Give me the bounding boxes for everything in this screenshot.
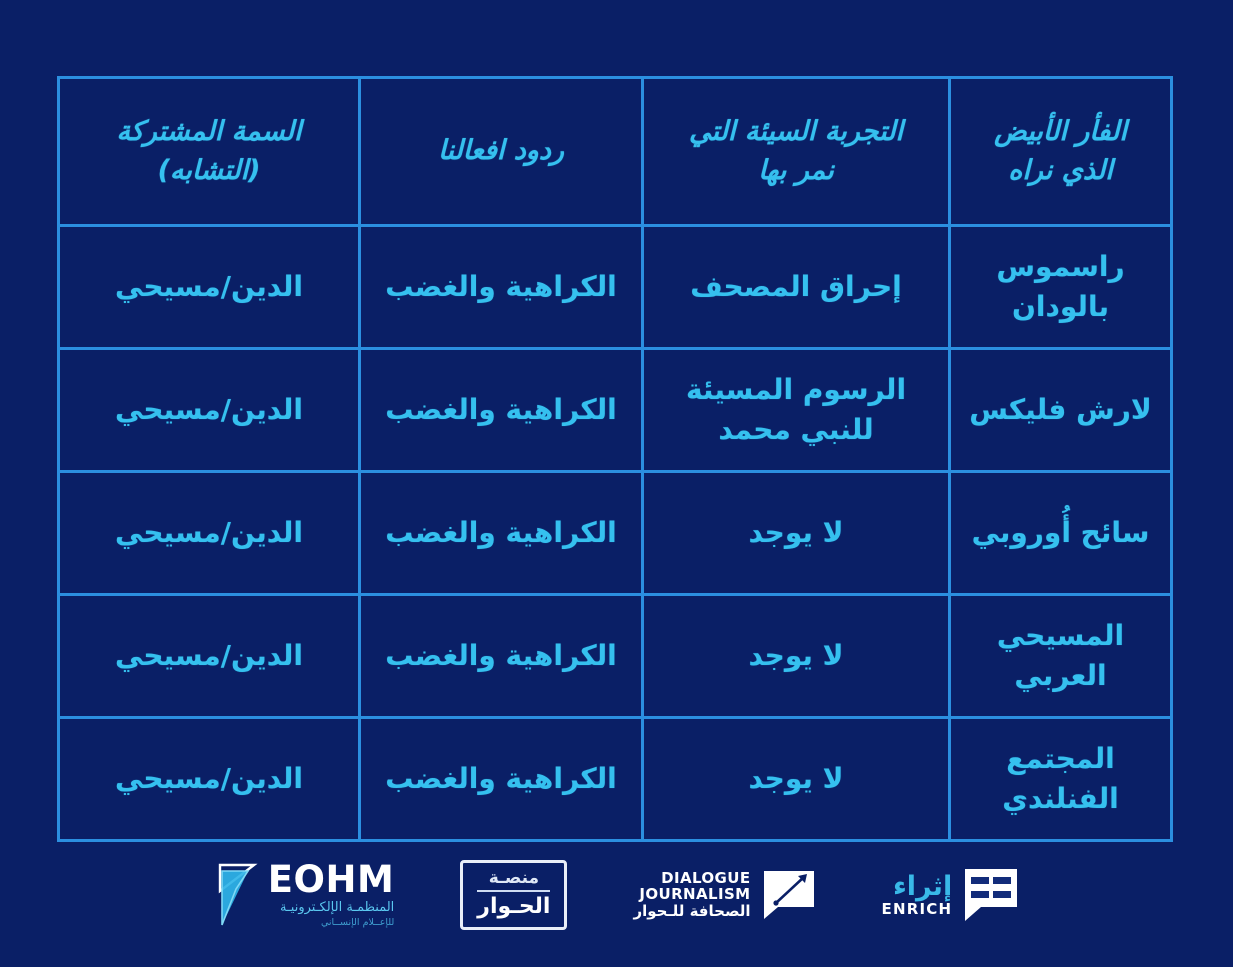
cell-our-reactions: الكراهية والغضب xyxy=(360,349,643,472)
cell-line: راسموس xyxy=(961,247,1160,287)
cell-line: لا يوجد xyxy=(654,636,938,676)
enrich-wordmark: إثراء ENRICH xyxy=(882,873,953,918)
cell-line: الدين/مسيحي xyxy=(70,636,348,676)
table-body: راسموس بالودان إحراق المصحف الكراهية وال… xyxy=(59,226,1172,841)
table-row: المجتمع الفنلندي لا يوجد الكراهية والغضب… xyxy=(59,718,1172,841)
comparison-table-container: الفأر الأبيض الذي نراه التجربة السيئة ال… xyxy=(60,76,1173,825)
dj-arabic: الصحافة للـحوار xyxy=(633,903,750,920)
cell-line: إحراق المصحف xyxy=(654,267,938,307)
column-header-white-mouse: الفأر الأبيض الذي نراه xyxy=(950,78,1172,226)
cell-our-reactions: الكراهية والغضب xyxy=(360,226,643,349)
cell-bad-experience: إحراق المصحف xyxy=(643,226,950,349)
cell-common-trait: الدين/مسيحي xyxy=(59,226,360,349)
cell-white-mouse: راسموس بالودان xyxy=(950,226,1172,349)
cell-our-reactions: الكراهية والغضب xyxy=(360,718,643,841)
cell-line: الدين/مسيحي xyxy=(70,390,348,430)
eohm-arabic-line-2: للإعــلام الإنســاني xyxy=(321,917,394,928)
cell-common-trait: الدين/مسيحي xyxy=(59,349,360,472)
logo-eohm: EOHM المنظمـة الإلكـترونيـة للإعــلام ال… xyxy=(214,861,395,929)
dj-line-2: JOURNALISM xyxy=(639,886,750,902)
column-header-line: الذي نراه xyxy=(961,152,1160,190)
cell-our-reactions: الكراهية والغضب xyxy=(360,472,643,595)
cell-line: الدين/مسيحي xyxy=(70,759,348,799)
column-header-line: السمة المشتركة xyxy=(70,113,348,151)
slide-canvas: الفأر الأبيض الذي نراه التجربة السيئة ال… xyxy=(0,0,1233,967)
table-header-row: الفأر الأبيض الذي نراه التجربة السيئة ال… xyxy=(59,78,1172,226)
column-header-line: الفأر الأبيض xyxy=(961,113,1160,151)
column-header-line: (التشابه) xyxy=(70,152,348,190)
table-row: لارش فليكس الرسوم المسيئة للنبي محمد الك… xyxy=(59,349,1172,472)
enrich-arabic: إثراء xyxy=(893,873,952,901)
cell-line: لا يوجد xyxy=(654,759,938,799)
enrich-latin: ENRICH xyxy=(882,901,953,918)
eohm-arabic-line-1: المنظمـة الإلكـترونيـة xyxy=(280,900,394,915)
column-header-bad-experience: التجربة السيئة التي نمر بها xyxy=(643,78,950,226)
hiwar-top-word: منصـة xyxy=(489,869,539,888)
dialogue-journalism-wordmark: DIALOGUE JOURNALISM الصحافة للـحوار xyxy=(633,870,750,921)
cell-line: المسيحي xyxy=(961,616,1160,656)
hiwar-bottom-word: الحـوار xyxy=(477,890,550,919)
cell-line: الكراهية والغضب xyxy=(371,513,631,553)
eohm-latin-name: EOHM xyxy=(268,862,395,897)
cell-bad-experience: لا يوجد xyxy=(643,595,950,718)
table-header: الفأر الأبيض الذي نراه التجربة السيئة ال… xyxy=(59,78,1172,226)
eohm-wordmark: EOHM المنظمـة الإلكـترونيـة للإعــلام ال… xyxy=(268,862,395,928)
cell-bad-experience: الرسوم المسيئة للنبي محمد xyxy=(643,349,950,472)
cell-line: الكراهية والغضب xyxy=(371,636,631,676)
cell-line: لارش فليكس xyxy=(961,390,1160,430)
logo-hiwar-platform: منصـة الحـوار xyxy=(460,860,567,930)
cell-line: سائح أُوروبي xyxy=(961,513,1160,553)
cell-white-mouse: لارش فليكس xyxy=(950,349,1172,472)
cell-line: الكراهية والغضب xyxy=(371,759,631,799)
cell-white-mouse: المجتمع الفنلندي xyxy=(950,718,1172,841)
cell-common-trait: الدين/مسيحي xyxy=(59,595,360,718)
speech-bubble-pen-icon xyxy=(762,869,816,921)
logo-enrich: إثراء ENRICH xyxy=(882,867,1020,923)
cell-line: لا يوجد xyxy=(654,513,938,553)
cell-line: الفنلندي xyxy=(961,779,1160,819)
comparison-table: الفأر الأبيض الذي نراه التجربة السيئة ال… xyxy=(57,76,1173,842)
cell-common-trait: الدين/مسيحي xyxy=(59,718,360,841)
logo-strip: EOHM المنظمـة الإلكـترونيـة للإعــلام ال… xyxy=(0,845,1233,945)
cell-line: المجتمع xyxy=(961,739,1160,779)
table-row: راسموس بالودان إحراق المصحف الكراهية وال… xyxy=(59,226,1172,349)
column-header-line: نمر بها xyxy=(654,152,938,190)
cell-line: للنبي محمد xyxy=(654,410,938,450)
cell-white-mouse: المسيحي العربي xyxy=(950,595,1172,718)
cell-common-trait: الدين/مسيحي xyxy=(59,472,360,595)
table-row: سائح أُوروبي لا يوجد الكراهية والغضب الد… xyxy=(59,472,1172,595)
cell-bad-experience: لا يوجد xyxy=(643,472,950,595)
column-header-line: التجربة السيئة التي xyxy=(654,113,938,151)
cell-our-reactions: الكراهية والغضب xyxy=(360,595,643,718)
cell-white-mouse: سائح أُوروبي xyxy=(950,472,1172,595)
column-header-common-trait: السمة المشتركة (التشابه) xyxy=(59,78,360,226)
dj-line-1: DIALOGUE xyxy=(661,870,750,886)
cell-line: بالودان xyxy=(961,287,1160,327)
cell-line: الدين/مسيحي xyxy=(70,513,348,553)
eohm-arrow-icon xyxy=(214,861,258,929)
cell-line: الكراهية والغضب xyxy=(371,267,631,307)
logo-dialogue-journalism: DIALOGUE JOURNALISM الصحافة للـحوار xyxy=(633,869,815,921)
column-header-line: ردود افعالنا xyxy=(371,132,631,170)
cell-line: العربي xyxy=(961,656,1160,696)
column-header-our-reactions: ردود افعالنا xyxy=(360,78,643,226)
cell-line: الكراهية والغضب xyxy=(371,390,631,430)
speech-bubble-lines-icon xyxy=(963,867,1019,923)
cell-line: الرسوم المسيئة xyxy=(654,370,938,410)
table-row: المسيحي العربي لا يوجد الكراهية والغضب ا… xyxy=(59,595,1172,718)
cell-line: الدين/مسيحي xyxy=(70,267,348,307)
cell-bad-experience: لا يوجد xyxy=(643,718,950,841)
